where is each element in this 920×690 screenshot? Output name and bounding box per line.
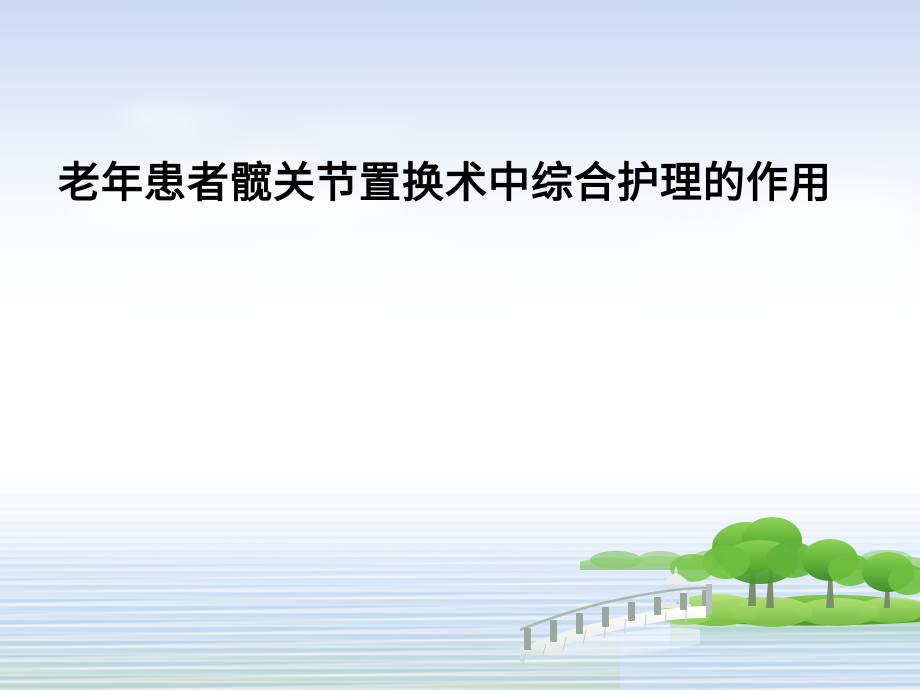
slide-title-block: 老年患者髋关节置换术中综合护理的作用 [58,158,858,208]
presentation-slide: 老年患者髋关节置换术中综合护理的作用 [0,0,920,690]
lake-water [0,470,920,690]
page-title: 老年患者髋关节置换术中综合护理的作用 [58,158,858,208]
